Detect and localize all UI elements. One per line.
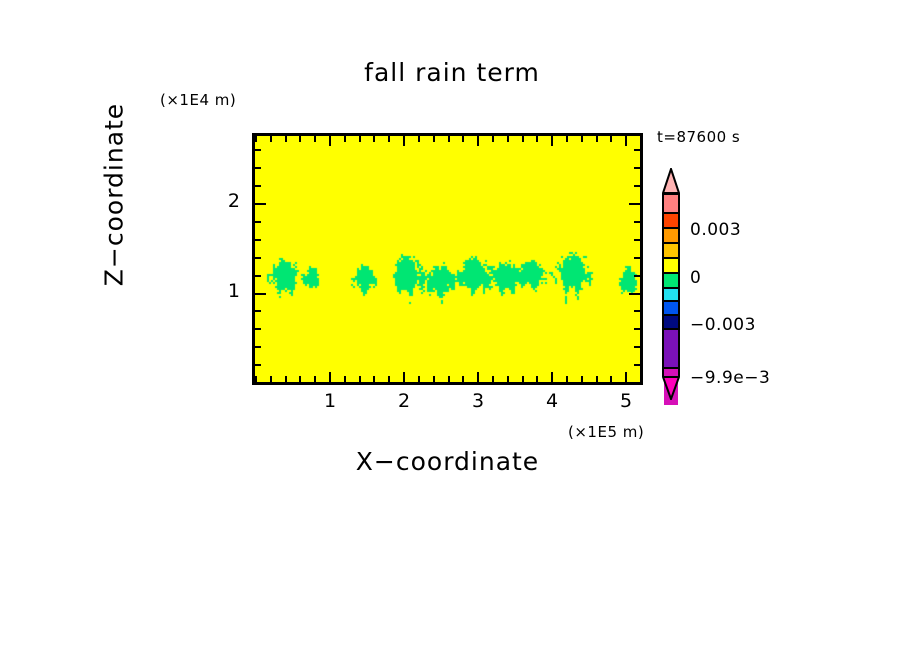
- chart-title: fall rain term: [0, 58, 904, 87]
- colorbar-tick-label: −9.9e−3: [690, 368, 770, 388]
- y-tick-label: 2: [210, 190, 240, 212]
- y-axis-title: Z−coordinate: [100, 70, 129, 320]
- x-tick-label: 2: [389, 390, 419, 412]
- colorbar-band: [664, 330, 678, 369]
- x-tick-label: 1: [315, 390, 345, 412]
- colorbar-tick-label: 0: [690, 268, 701, 288]
- colorbar-tick-label: −0.003: [690, 315, 756, 335]
- colorbar-band: [664, 229, 678, 244]
- colorbar: 0.0030−0.003−9.9e−3: [657, 168, 777, 400]
- y-tick-label: 1: [210, 280, 240, 302]
- x-tick-label: 4: [537, 390, 567, 412]
- colorbar-tick-label: 0.003: [690, 220, 741, 240]
- colorbar-bottom-arrow-icon: [662, 376, 680, 400]
- colorbar-band: [664, 195, 678, 214]
- colorbar-band: [664, 214, 678, 229]
- colorbar-band: [664, 259, 678, 274]
- x-axis-title: X−coordinate: [252, 447, 643, 476]
- x-axis-unit-label: (×1E5 m): [568, 423, 644, 441]
- colorbar-band: [664, 274, 678, 289]
- colorbar-band: [664, 289, 678, 302]
- colorbar-band: [664, 302, 678, 316]
- x-tick-label: 5: [611, 390, 641, 412]
- heatmap-canvas: [255, 136, 640, 382]
- y-axis-unit-label: (×1E4 m): [160, 91, 236, 109]
- colorbar-band: [664, 316, 678, 330]
- plot-area: [252, 133, 643, 385]
- colorbar-band: [664, 244, 678, 259]
- colorbar-top-arrow-icon: [662, 168, 680, 194]
- x-tick-label: 3: [463, 390, 493, 412]
- timestamp-annotation: t=87600 s: [657, 128, 740, 146]
- colorbar-bands: [662, 193, 680, 377]
